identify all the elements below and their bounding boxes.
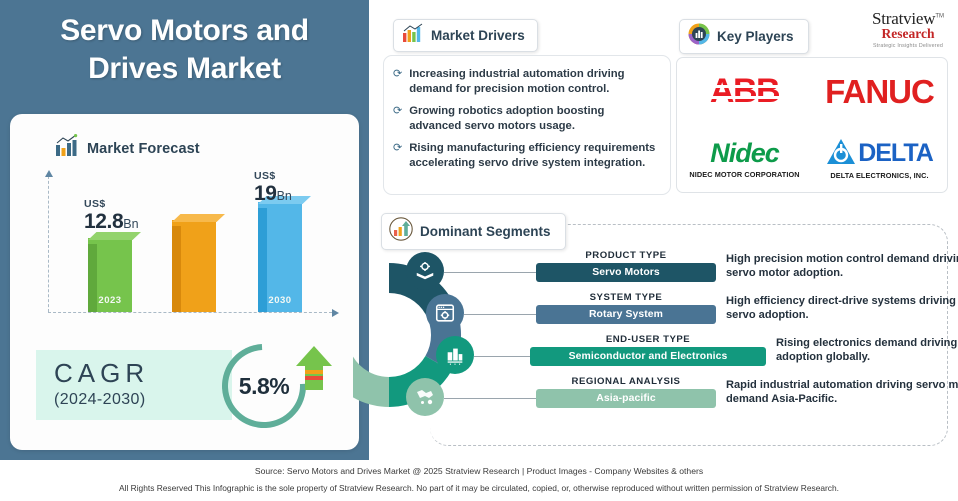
pie-chart-icon [688, 23, 710, 50]
footer-source: Source: Servo Motors and Drives Market @… [0, 466, 958, 476]
stratview-logo: StratviewTM Research Strategic Insights … [862, 9, 954, 49]
segment-row-system-type: SYSTEM TYPE Rotary System High efficienc… [426, 292, 958, 338]
product-gear-icon [406, 252, 444, 290]
refresh-bullet-icon: ⟳ [393, 67, 402, 96]
up-arrow-icon [294, 344, 334, 402]
segment-caption: END-USER TYPE [530, 334, 766, 345]
title-line-1: Servo Motors and [0, 12, 369, 50]
refresh-bullet-icon: ⟳ [393, 141, 402, 170]
connector-line [444, 272, 536, 273]
market-drivers-box: ⟳ Increasing industrial automation drivi… [383, 55, 671, 195]
refresh-bullet-icon: ⟳ [393, 104, 402, 133]
delta-triangle-icon [826, 138, 856, 170]
cagr-text: CAGR (2024-2030) [54, 358, 149, 409]
forecast-bar-chart: 2023 US$ 12.8Bn 2030 U [32, 176, 342, 328]
key-players-label: Key Players [717, 29, 794, 44]
logo-fanuc: FANUC [825, 73, 934, 111]
dominant-segments-label: Dominant Segments [420, 224, 551, 239]
growth-arrow-icon [389, 217, 413, 246]
segment-row-product-type: PRODUCT TYPE Servo Motors High precision… [406, 250, 958, 296]
cagr-period: (2024-2030) [54, 391, 149, 409]
segment-row-end-user-type: END-USER TYPE Semiconductor and Electron… [436, 334, 958, 380]
market-drivers-header: Market Drivers [393, 19, 538, 52]
segment-row-regional-analysis: REGIONAL ANALYSIS Asia-pacific Rapid ind… [406, 376, 958, 422]
chart-x-axis [48, 312, 332, 313]
connector-line [464, 314, 536, 315]
market-driver-item: ⟳ Increasing industrial automation drivi… [393, 67, 658, 96]
page-title: Servo Motors and Drives Market [0, 12, 369, 88]
market-drivers-label: Market Drivers [431, 28, 525, 43]
bar-label-2030: 2030 [258, 295, 302, 306]
cagr-block: CAGR (2024-2030) 5.8% [26, 338, 344, 430]
brand-tagline: Strategic Insights Delivered [862, 43, 954, 49]
title-line-2: Drives Market [0, 50, 369, 88]
segment-caption: PRODUCT TYPE [536, 250, 716, 261]
key-players-box: ABB FANUC Nidec NIDEC MOTOR CORPORATION … [676, 57, 948, 193]
segment-caption: REGIONAL ANALYSIS [536, 376, 716, 387]
bar-value-2030: US$ 19Bn [254, 170, 292, 206]
segment-description: High efficiency direct-drive systems dri… [726, 294, 958, 323]
footer-rights: All Rights Reserved This Infographic is … [0, 483, 958, 493]
market-forecast-header: Market Forecast [54, 134, 200, 163]
cagr-label: CAGR [54, 358, 149, 389]
market-forecast-card: Market Forecast 2023 US$ 12.8Bn [10, 114, 359, 450]
dominant-segments-header: Dominant Segments [381, 213, 566, 250]
segment-description: Rapid industrial automation driving serv… [726, 378, 958, 407]
footer: Source: Servo Motors and Drives Market @… [0, 460, 958, 501]
bar-chart-growth-icon [402, 23, 424, 48]
segment-value: Semiconductor and Electronics [530, 347, 766, 366]
market-forecast-label: Market Forecast [87, 141, 200, 157]
logo-nidec: Nidec NIDEC MOTOR CORPORATION [689, 138, 799, 179]
infographic-page: Servo Motors and Drives Market Market Fo… [0, 0, 958, 501]
segment-description: Rising electronics demand driving servo … [776, 336, 958, 365]
trademark-mark: TM [935, 14, 944, 20]
key-players-header: Key Players [679, 19, 809, 54]
segment-value: Servo Motors [536, 263, 716, 282]
logo-delta: DELTA DELTA ELECTRONICS, INC. [826, 138, 933, 180]
system-window-gear-icon [426, 294, 464, 332]
market-driver-item: ⟳ Growing robotics adoption boosting adv… [393, 104, 658, 133]
bar-label-2023: 2023 [88, 295, 132, 306]
factory-building-icon [436, 336, 474, 374]
chart-y-axis [48, 176, 49, 312]
segment-description: High precision motion control demand dri… [726, 252, 958, 281]
market-driver-item: ⟳ Rising manufacturing efficiency requir… [393, 141, 658, 170]
logo-abb: ABB [710, 72, 779, 111]
globe-map-icon [406, 378, 444, 416]
segment-value: Rotary System [536, 305, 716, 324]
bar-chart-icon [54, 134, 78, 163]
segment-caption: SYSTEM TYPE [536, 292, 716, 303]
connector-line [444, 398, 536, 399]
connector-line [474, 356, 530, 357]
segment-value: Asia-pacific [536, 389, 716, 408]
bar-value-2023: US$ 12.8Bn [84, 198, 139, 234]
